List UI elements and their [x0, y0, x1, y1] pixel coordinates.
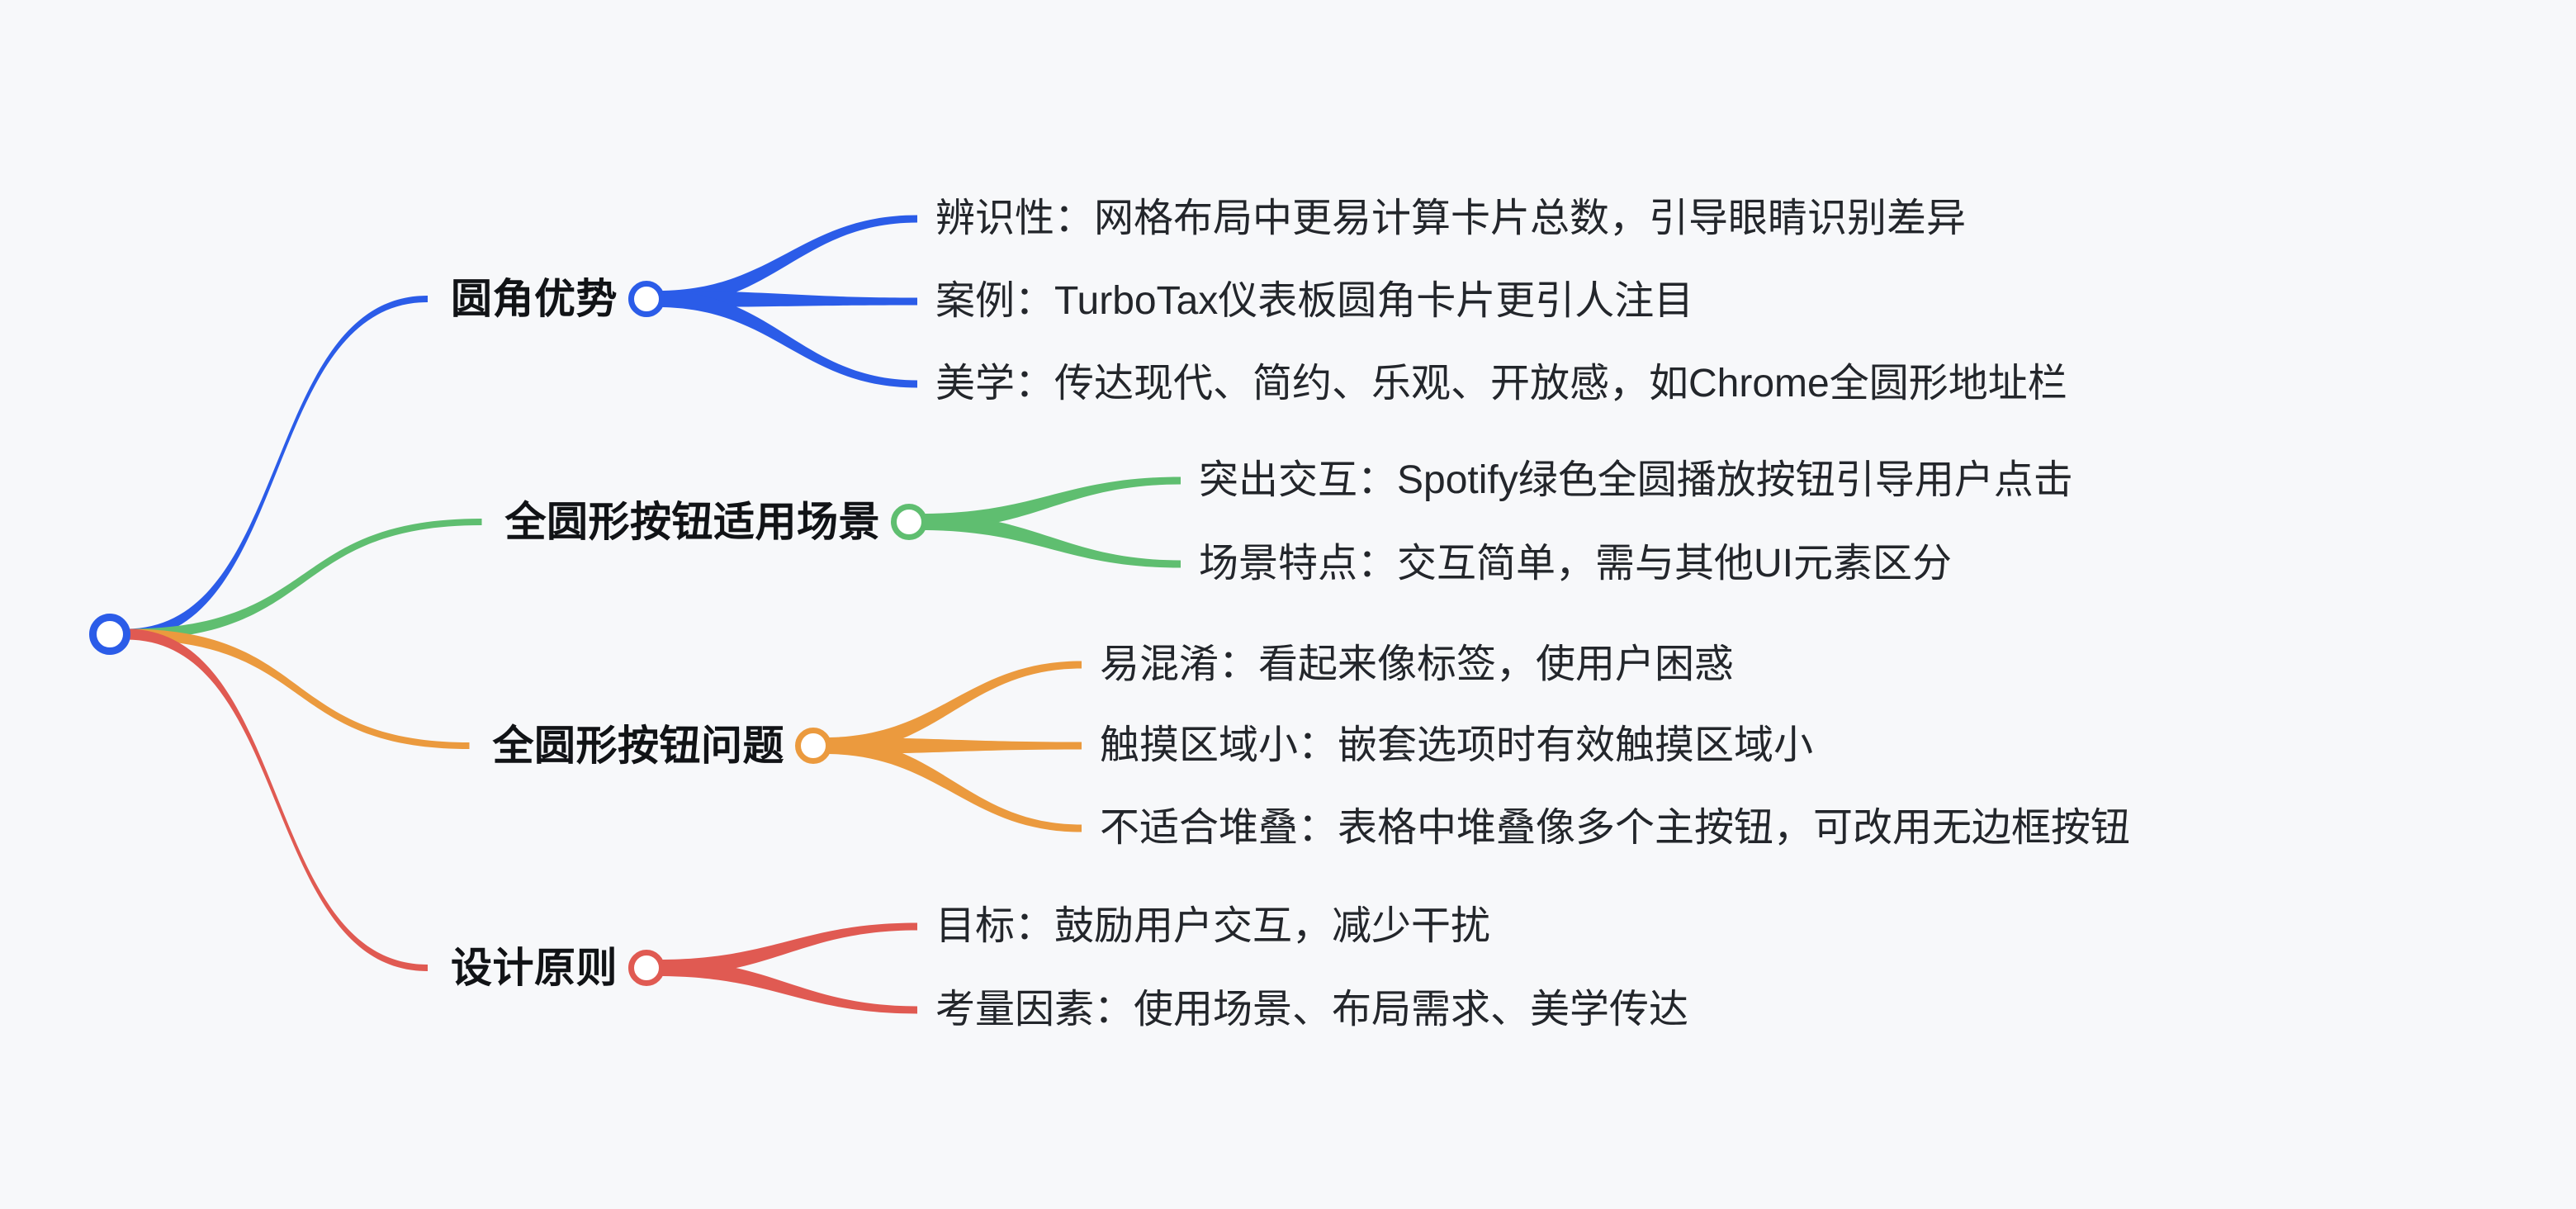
leaf-label-child-considerations[interactable]: 考量因素：使用场景、布局需求、美学传达 — [935, 990, 1688, 1030]
root-node-dot[interactable] — [89, 614, 130, 655]
edge-branch-pill-button-problems-to-child-not-stackable — [825, 737, 1082, 832]
leaf-label-child-highlight-interaction[interactable]: 突出交互：Spotify绿色全圆播放按钮引导用户点击 — [1199, 461, 2073, 500]
edge-branch-design-principles-to-child-goal — [658, 923, 917, 977]
edge-branch-pill-button-problems-to-child-confusing — [825, 661, 1082, 755]
leaf-label-child-scenario-traits[interactable]: 场景特点：交互简单，需与其他UI元素区分 — [1199, 544, 1952, 584]
branch-label-branch-pill-button-use-cases[interactable]: 全圆形按钮适用场景 — [505, 501, 881, 543]
branch-node-dot-branch-pill-button-problems[interactable] — [795, 728, 831, 764]
branch-label-branch-pill-button-problems[interactable]: 全圆形按钮问题 — [493, 725, 785, 766]
leaf-label-child-case-turbotax[interactable]: 案例：TurboTax仪表板圆角卡片更引人注目 — [935, 282, 1693, 321]
leaf-label-child-aesthetics[interactable]: 美学：传达现代、简约、乐观、开放感，如Chrome全圆形地址栏 — [935, 364, 2067, 404]
edge-branch-round-corner-advantages-to-child-recognizability — [658, 216, 917, 308]
edge-root-to-branch-design-principles — [126, 629, 428, 972]
edge-branch-design-principles-to-child-considerations — [658, 960, 917, 1014]
edge-root-to-branch-pill-button-problems — [126, 629, 470, 750]
branch-label-branch-round-corner-advantages[interactable]: 圆角优势 — [451, 278, 618, 320]
branch-label-branch-design-principles[interactable]: 设计原则 — [451, 947, 618, 989]
branch-node-dot-branch-pill-button-use-cases[interactable] — [891, 504, 927, 540]
mindmap-canvas: 圆角优势辨识性：网格布局中更易计算卡片总数，引导眼睛识别差异案例：TurboTa… — [0, 0, 2576, 1209]
branch-node-dot-branch-round-corner-advantages[interactable] — [628, 281, 665, 317]
leaf-label-child-goal[interactable]: 目标：鼓励用户交互，减少干扰 — [935, 907, 1490, 946]
branch-node-dot-branch-design-principles[interactable] — [628, 950, 665, 986]
edge-branch-round-corner-advantages-to-child-aesthetics — [658, 291, 917, 388]
leaf-label-child-recognizability[interactable]: 辨识性：网格布局中更易计算卡片总数，引导眼睛识别差异 — [935, 199, 1966, 239]
edge-branch-round-corner-advantages-to-child-case-turbotax — [658, 291, 917, 307]
edge-root-to-branch-round-corner-advantages — [126, 296, 428, 640]
leaf-label-child-not-stackable[interactable]: 不适合堆叠：表格中堆叠像多个主按钮，可改用无边框按钮 — [1100, 808, 2130, 848]
edge-branch-pill-button-problems-to-child-small-touch-area — [825, 737, 1082, 754]
edge-branch-pill-button-use-cases-to-child-highlight-interaction — [921, 477, 1181, 531]
leaf-label-child-small-touch-area[interactable]: 触摸区域小：嵌套选项时有效触摸区域小 — [1100, 726, 1813, 766]
edge-root-to-branch-pill-button-use-cases — [126, 519, 482, 640]
edge-branch-pill-button-use-cases-to-child-scenario-traits — [921, 514, 1181, 568]
leaf-label-child-confusing[interactable]: 易混淆：看起来像标签，使用户困惑 — [1100, 645, 1734, 685]
